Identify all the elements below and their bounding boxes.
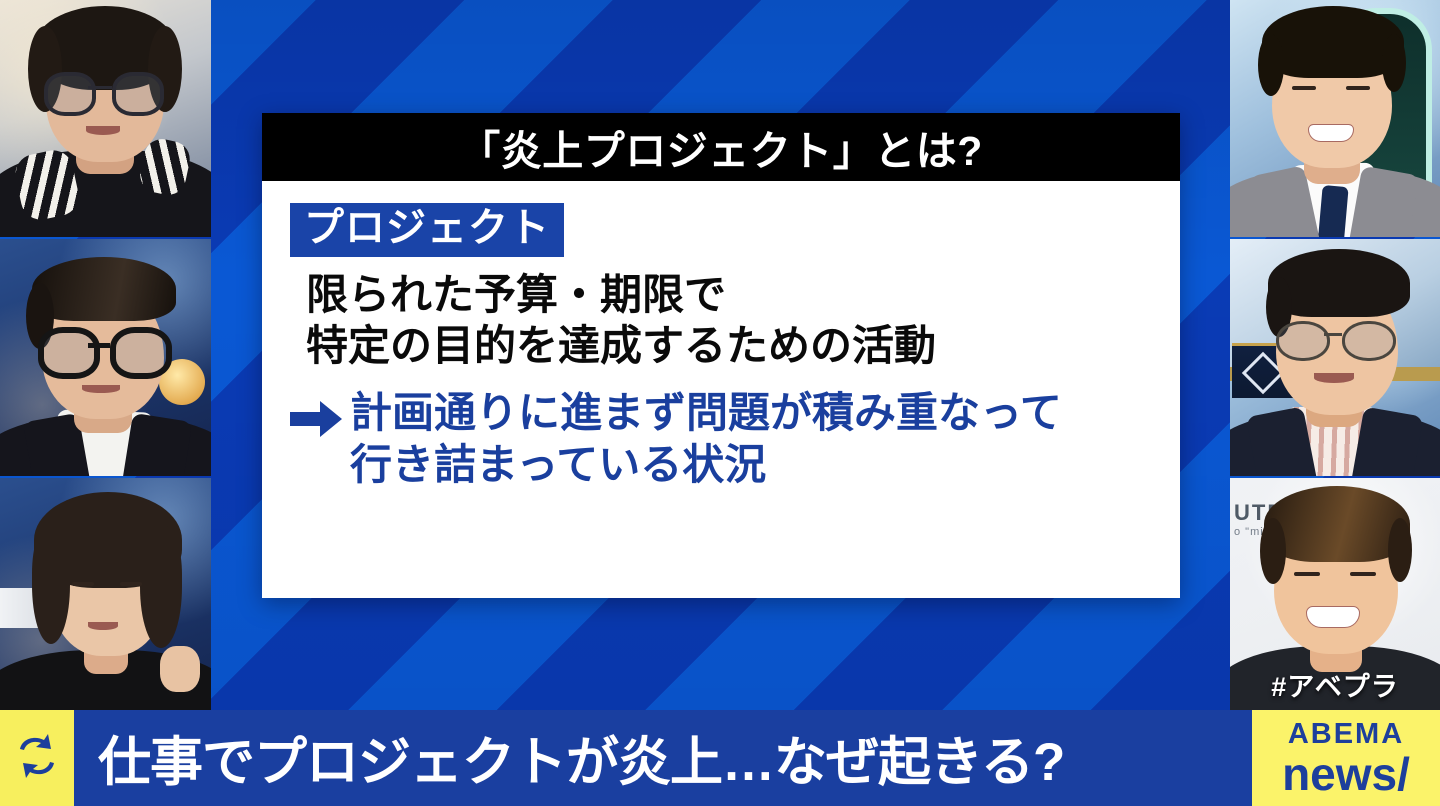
mouth [82, 385, 120, 393]
mouth [86, 126, 120, 135]
hair-left [32, 526, 70, 644]
eye-left [72, 582, 94, 586]
eye-right [1346, 86, 1370, 90]
card-header: 「炎上プロジェクト」とは? [262, 113, 1180, 181]
eye-right [1350, 572, 1376, 576]
banner-headline: 仕事でプロジェクトが炎上…なぜ起きる? [74, 710, 1248, 806]
panel-guest-2 [0, 239, 211, 476]
term-badge-row: プロジェクト [290, 203, 1152, 257]
term-badge: プロジェクト [290, 203, 564, 257]
definition-line-1: 限られた予算・期限で [306, 269, 1152, 320]
recycle-loop-icon [10, 729, 64, 788]
definition-line-2: 特定の目的を達成するための活動 [306, 320, 1152, 371]
card-body: プロジェクト 限られた予算・期限で 特定の目的を達成するための活動 計画通りに進… [262, 181, 1180, 598]
definition-block: 限られた予算・期限で 特定の目的を達成するための活動 [290, 269, 1152, 371]
result-text: 計画通りに進まず問題が積み重なって 行き詰まっている状況 [350, 387, 1062, 489]
result-line-1: 計画通りに進まず問題が積み重なって [350, 387, 1062, 438]
panel-guest-3 [0, 478, 211, 710]
hand [160, 646, 200, 692]
page-title: 「炎上プロジェクト」とは? [459, 117, 983, 177]
eye-left [1292, 86, 1316, 90]
result-block: 計画通りに進まず問題が積み重なって 行き詰まっている状況 [290, 387, 1152, 489]
hair-right [1382, 34, 1406, 92]
banner-icon-box [0, 710, 74, 806]
logo-news-text: news/ [1282, 751, 1410, 797]
hair-right [140, 526, 182, 648]
mouth [88, 622, 118, 630]
hair-right [1388, 518, 1412, 582]
panel-guest-1 [0, 0, 211, 237]
mouth [1314, 373, 1354, 383]
result-line-2: 行き詰まっている状況 [350, 439, 1062, 490]
logo-abema-text: ABEMA [1288, 720, 1404, 749]
necktie [1317, 185, 1348, 237]
right-arrow-icon [290, 399, 342, 444]
panel-guest-5 [1230, 239, 1440, 476]
hair-left [1260, 518, 1286, 584]
eye-left [1294, 572, 1320, 576]
panel-guest-6: UTE TH o "michi" #アベプラ [1230, 478, 1440, 710]
bottom-banner: 仕事でプロジェクトが炎上…なぜ起きる? ABEMA news/ [0, 710, 1440, 806]
mouth [1308, 124, 1354, 142]
info-card: 「炎上プロジェクト」とは? プロジェクト 限られた予算・期限で 特定の目的を達成… [262, 113, 1180, 598]
eye-right [120, 582, 142, 586]
panel-guest-4 [1230, 0, 1440, 237]
broadcast-screen: UTE TH o "michi" #アベプラ 「炎上プロジェクト」とは? プロジ… [0, 0, 1440, 806]
abema-news-logo: ABEMA news/ [1248, 710, 1440, 806]
hair-left [1258, 34, 1284, 96]
panel-hashtag-caption: #アベプラ [1230, 665, 1440, 704]
mouth [1306, 606, 1360, 628]
